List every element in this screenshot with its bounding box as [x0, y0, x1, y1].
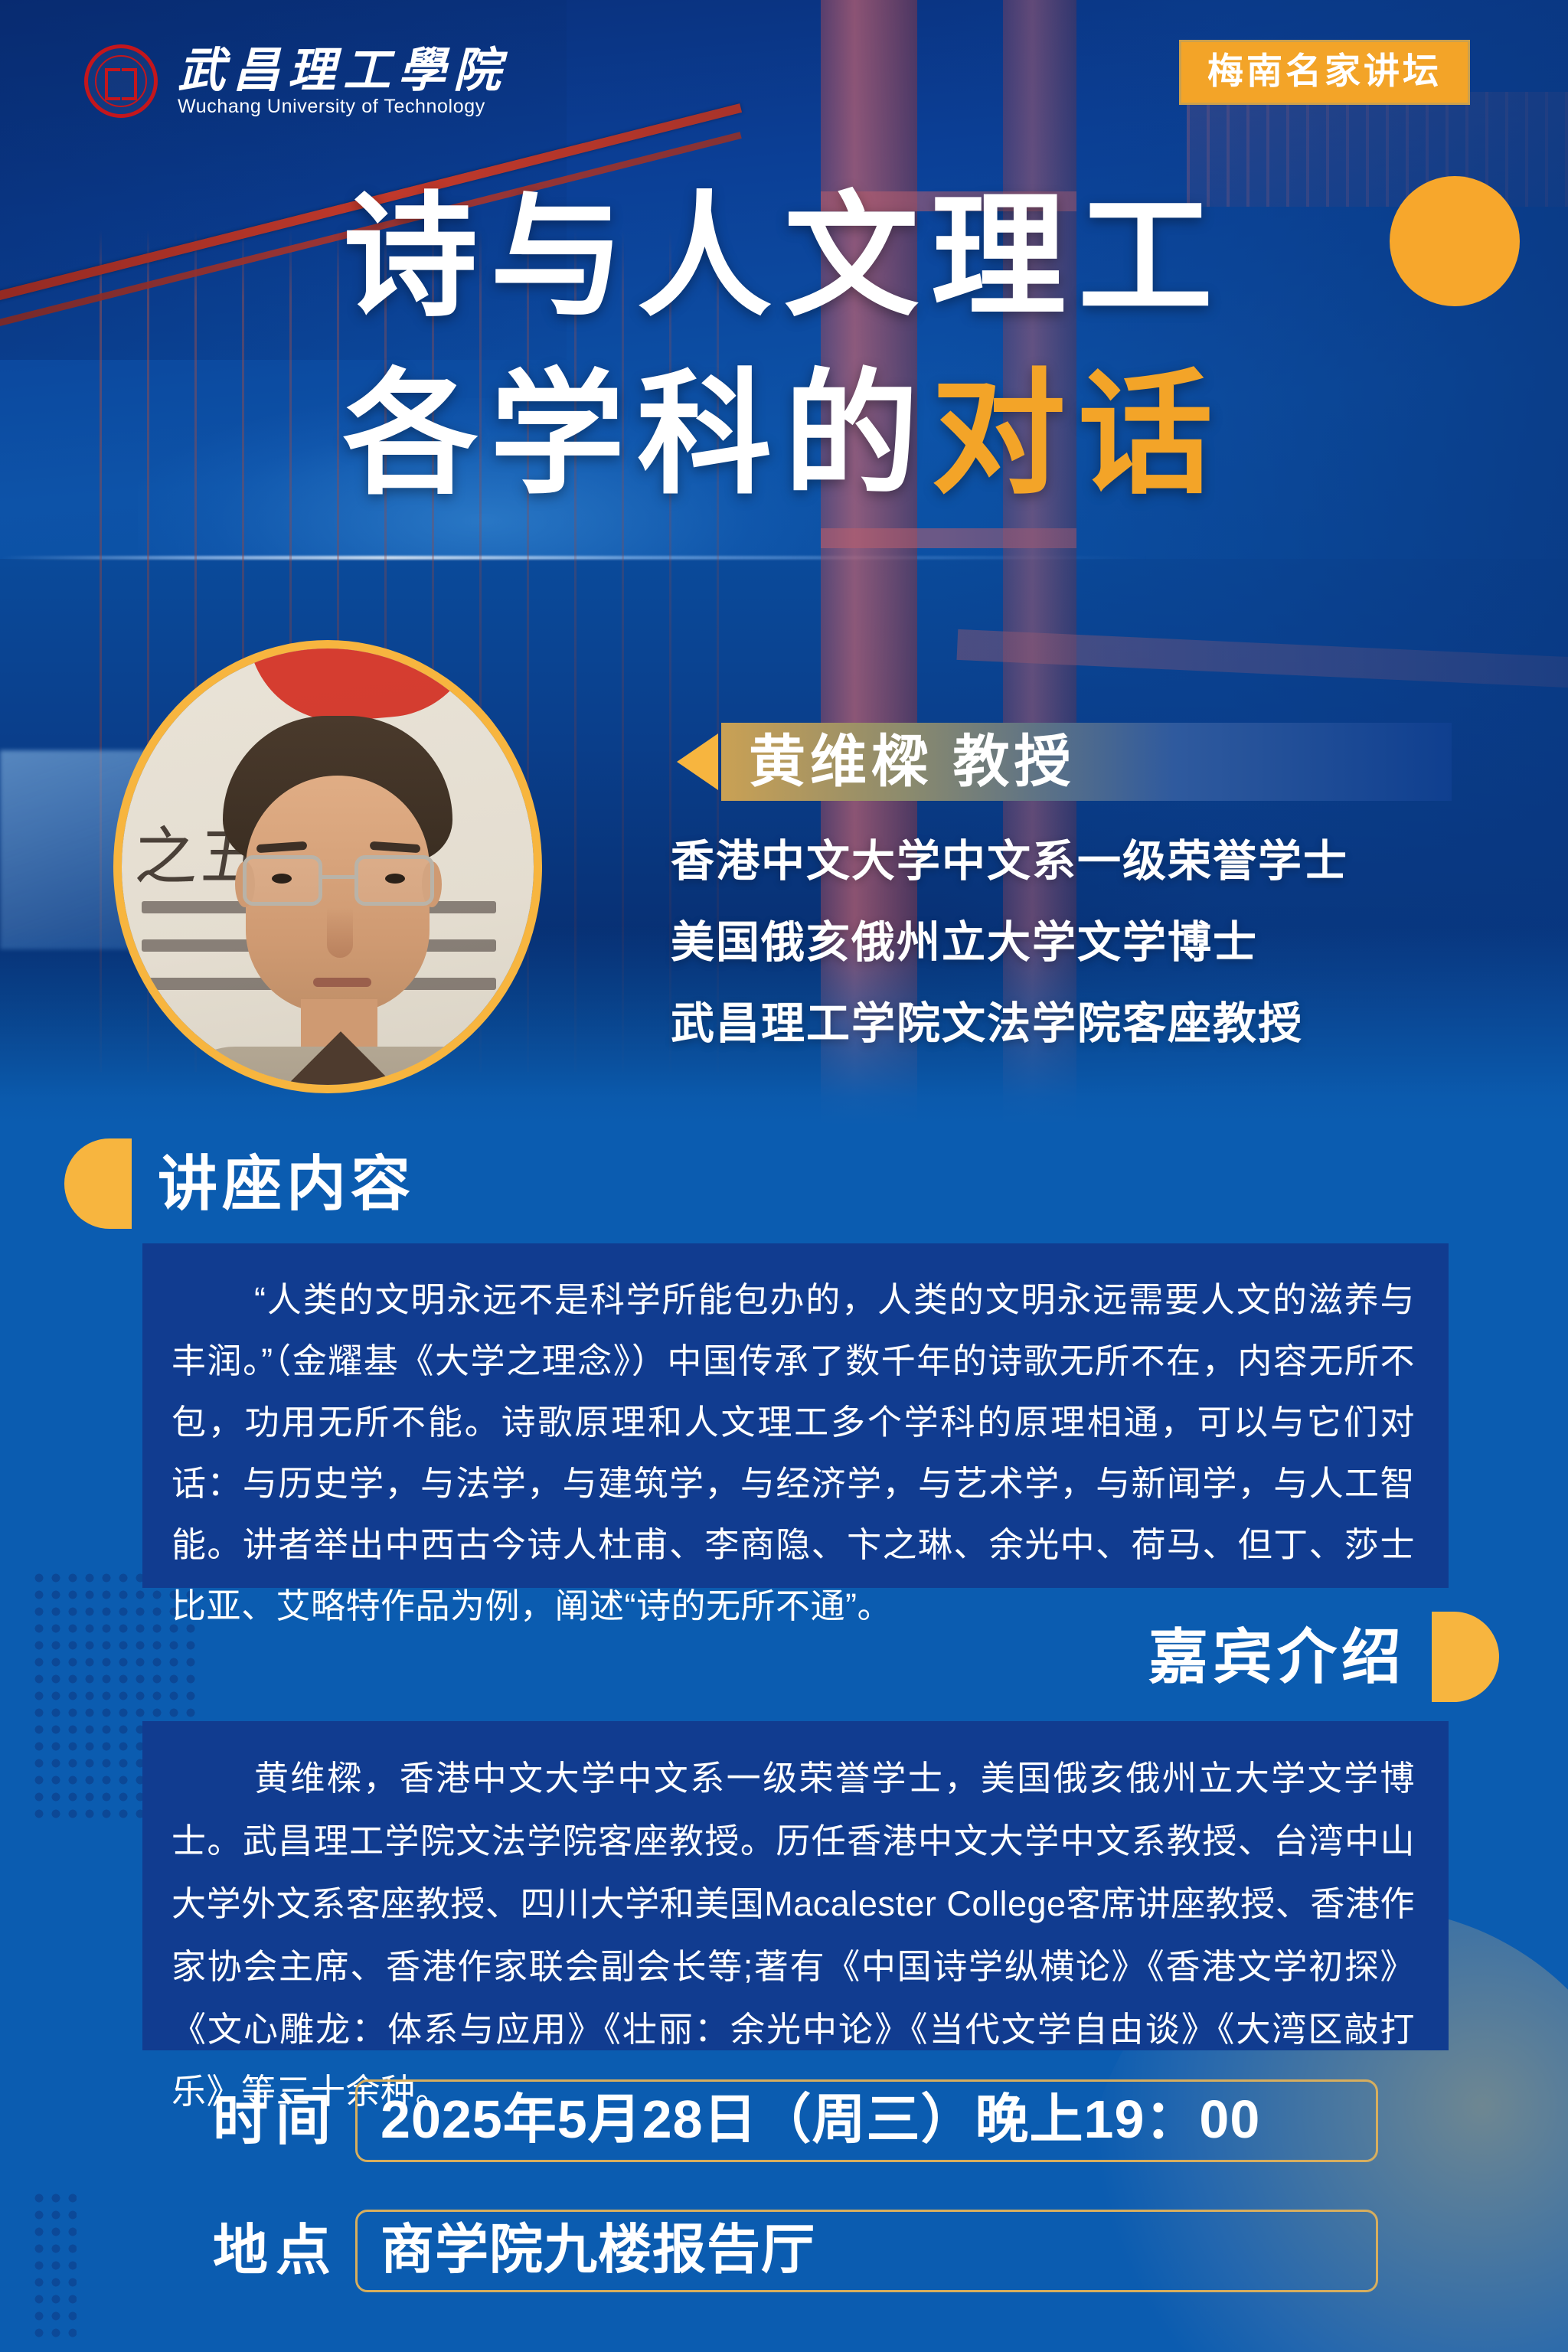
place-value: 商学院九楼报告厅: [355, 2210, 1378, 2292]
quarter-circle-right-icon: [1432, 1612, 1499, 1702]
title-line-2-plain: 各学科的: [343, 356, 931, 513]
series-badge: 梅南名家讲坛: [1179, 40, 1470, 105]
title-line-2: 各学科的对话: [0, 367, 1568, 502]
portrait-nose: [327, 907, 353, 958]
portrait-eye-left: [272, 874, 292, 884]
speaker-name-bar: 黄维樑 教授: [671, 723, 1452, 801]
time-value: 2025年5月28日（周三）晚上19：00: [355, 2079, 1378, 2162]
credential-item: 武昌理工学院文法学院客座教授: [671, 1001, 1482, 1047]
portrait-eye-right: [385, 874, 405, 884]
section-title-guest: 嘉宾介绍: [1148, 1627, 1406, 1687]
credential-item: 香港中文大学中文系一级荣誉学士: [671, 839, 1482, 885]
event-place-row: 地点 商学院九楼报告厅: [213, 2210, 1378, 2292]
lecture-content-box: “人类的文明永远不是科学所能包办的，人类的文明永远需要人文的滋养与丰润。”（金耀…: [142, 1243, 1449, 1588]
left-triangle-icon: [671, 723, 721, 801]
glasses-bridge: [322, 875, 354, 879]
portrait-head: [212, 716, 465, 1093]
page-title: 诗与人文理工 各学科的对话: [0, 190, 1568, 502]
speaker-portrait: 之五: [113, 640, 542, 1093]
title-line-1: 诗与人文理工: [0, 190, 1568, 325]
credential-item: 美国俄亥俄州立大学文学博士: [671, 920, 1482, 966]
title-line-2-highlight: 对话: [931, 356, 1225, 513]
section-title-lecture: 讲座内容: [158, 1154, 415, 1214]
quarter-circle-left-icon: [64, 1138, 132, 1229]
speaker-name: 黄维樑 教授: [721, 723, 1452, 801]
portrait-mouth: [313, 978, 371, 987]
university-name-en: Wuchang University of Technology: [178, 97, 508, 116]
poster-header: 武昌理工學院 Wuchang University of Technology …: [0, 0, 1568, 153]
time-label: 时间: [213, 2093, 338, 2148]
guest-intro-box: 黄维樑，香港中文大学中文系一级荣誉学士，美国俄亥俄州立大学文学博士。武昌理工学院…: [142, 1721, 1449, 2050]
lecture-content-text: “人类的文明永远不是科学所能包办的，人类的文明永远需要人文的滋养与丰润。”（金耀…: [171, 1269, 1415, 1638]
poster-canvas: 武昌理工學院 Wuchang University of Technology …: [0, 0, 1568, 2352]
university-name-cn: 武昌理工學院: [178, 47, 508, 94]
university-logo: 武昌理工學院 Wuchang University of Technology: [84, 44, 508, 118]
seal-glyph-icon: [105, 65, 137, 97]
university-logo-text: 武昌理工學院 Wuchang University of Technology: [178, 47, 508, 116]
place-label: 地点: [213, 2223, 338, 2278]
guest-intro-text: 黄维樑，香港中文大学中文系一级荣誉学士，美国俄亥俄州立大学文学博士。武昌理工学院…: [171, 1747, 1415, 2123]
section-heading-guest: 嘉宾介绍: [1148, 1608, 1499, 1706]
dot-pattern-left-lower: [31, 2190, 77, 2343]
portrait-glasses-icon: [243, 855, 434, 906]
section-heading-lecture: 讲座内容: [64, 1135, 415, 1233]
event-time-row: 时间 2025年5月28日（周三）晚上19：00: [213, 2079, 1378, 2162]
speaker-credentials: 香港中文大学中文系一级荣誉学士 美国俄亥俄州立大学文学博士 武昌理工学院文法学院…: [671, 839, 1482, 1047]
university-seal-icon: [84, 44, 158, 118]
